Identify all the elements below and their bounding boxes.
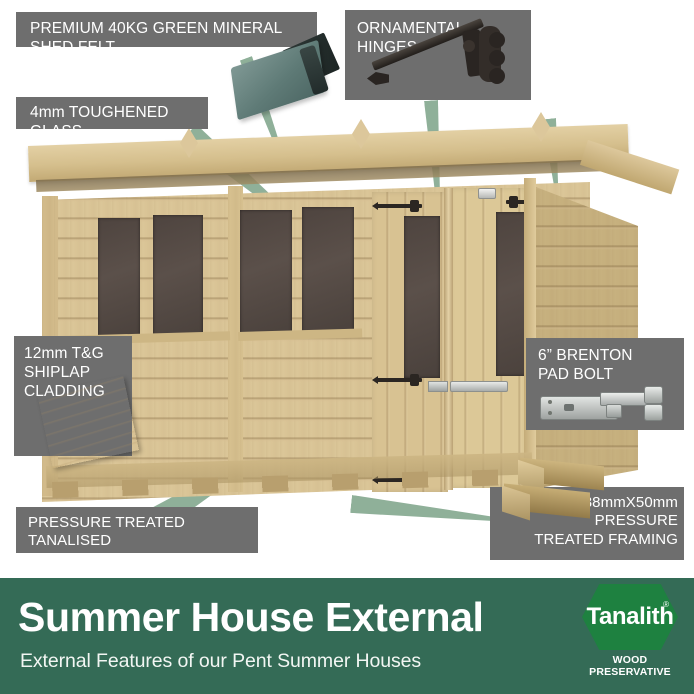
roof-right-edge <box>580 140 679 194</box>
pad-bolt-fitted-keep <box>428 381 448 392</box>
tanalith-hex-icon: Tanalith ® <box>582 584 678 650</box>
ornamental-hinge-left-top <box>376 200 422 212</box>
door-pane-left <box>404 216 440 378</box>
pad-bolt-fitted-icon[interactable] <box>450 381 508 392</box>
registered-mark: ® <box>663 600 669 609</box>
window-pane-3 <box>240 210 292 336</box>
tanalith-tagline: WOOD PRESERVATIVE <box>574 654 686 678</box>
callout-pressure-treated-timber[interactable]: PRESSURE TREATED TANALISED TIMBER MATERI… <box>16 507 258 553</box>
page-subtitle: External Features of our Pent Summer Hou… <box>20 650 421 673</box>
ornamental-hinge-icon <box>367 28 519 94</box>
pad-bolt-icon <box>540 386 674 420</box>
window-pane-1 <box>98 218 140 340</box>
timber-batten-icon <box>502 462 610 528</box>
window-pane-2 <box>153 215 203 339</box>
side-wall-right <box>528 170 638 490</box>
door-centre-stile <box>444 188 453 490</box>
tanalith-wordmark: Tanalith <box>586 603 673 631</box>
footer-banner: Summer House External External Features … <box>0 578 694 694</box>
page-title: Summer House External <box>18 594 484 641</box>
callout-ornamental-hinges[interactable]: ORNAMENTAL HINGES <box>345 10 531 100</box>
callout-pressure-treated-timber-label: PRESSURE TREATED TANALISED TIMBER MATERI… <box>28 514 258 578</box>
product-feature-infographic: PREMIUM 40KG GREEN MINERAL SHED FELT ORN… <box>0 0 694 694</box>
callout-toughened-glass-label: 4mm TOUGHENED GLASS <box>30 104 208 142</box>
illustration-area: PREMIUM 40KG GREEN MINERAL SHED FELT ORN… <box>0 0 694 578</box>
callout-toughened-glass[interactable]: 4mm TOUGHENED GLASS <box>16 97 208 129</box>
window-pane-4 <box>302 207 354 333</box>
felt-roll-icon <box>230 40 342 110</box>
ornamental-hinge-left-mid <box>376 374 422 386</box>
door-latch-keep[interactable] <box>478 188 496 199</box>
tanalith-logo: Tanalith ® WOOD PRESERVATIVE <box>574 582 686 684</box>
side-wall-corner <box>524 178 536 494</box>
callout-pad-bolt[interactable]: 6” BRENTON PAD BOLT <box>526 338 684 430</box>
callout-pad-bolt-label: 6” BRENTON PAD BOLT <box>538 347 633 385</box>
